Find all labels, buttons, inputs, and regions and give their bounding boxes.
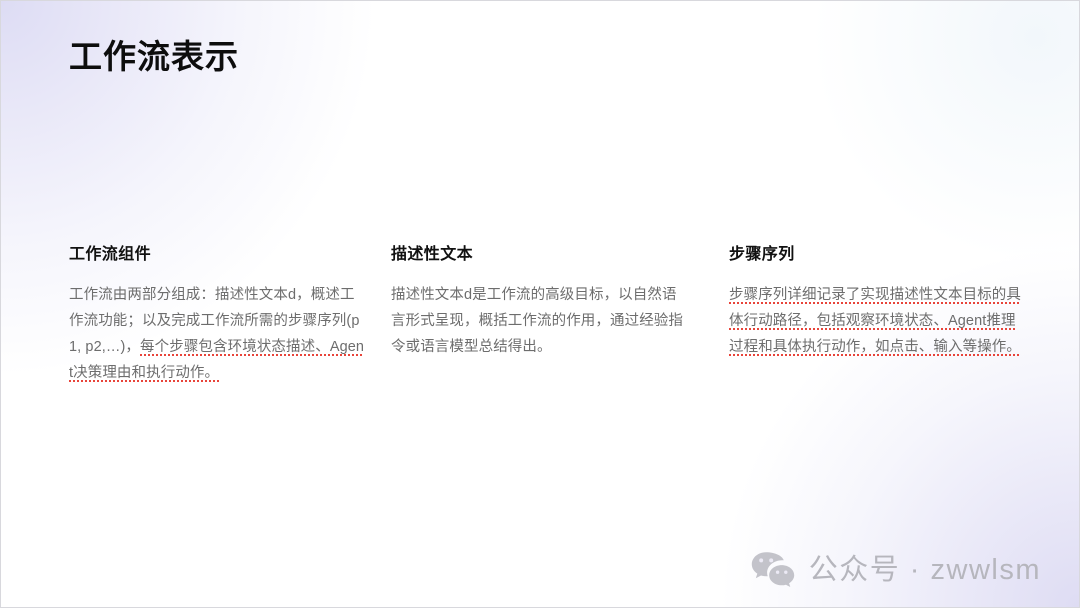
column-body: 步骤序列详细记录了实现描述性文本目标的具体行动路径，包括观察环境状态、Agent… <box>729 282 1025 360</box>
watermark-text: 公众号 · zwwlsm <box>809 556 1041 585</box>
column-heading: 步骤序列 <box>729 245 1025 264</box>
column-heading: 工作流组件 <box>69 245 365 264</box>
watermark: 公众号 · zwwlsm <box>751 551 1041 589</box>
body-segment-spellcheck: 步骤序列详细记录了实现描述性文本目标的具体行动路径，包括观察环境状态、Agent… <box>729 287 1021 355</box>
column-step-sequence: 步骤序列 步骤序列详细记录了实现描述性文本目标的具体行动路径，包括观察环境状态、… <box>729 245 1025 360</box>
wechat-icon <box>751 551 795 589</box>
body-segment: 描述性文本d是工作流的高级目标，以自然语言形式呈现，概括工作流的作用，通过经验指… <box>391 287 683 355</box>
columns-container: 工作流组件 工作流由两部分组成：描述性文本d，概述工作流功能；以及完成工作流所需… <box>1 245 1080 435</box>
column-workflow-components: 工作流组件 工作流由两部分组成：描述性文本d，概述工作流功能；以及完成工作流所需… <box>69 245 365 386</box>
column-body: 描述性文本d是工作流的高级目标，以自然语言形式呈现，概括工作流的作用，通过经验指… <box>391 282 687 360</box>
column-body: 工作流由两部分组成：描述性文本d，概述工作流功能；以及完成工作流所需的步骤序列(… <box>69 282 365 386</box>
page-title: 工作流表示 <box>69 37 239 77</box>
column-descriptive-text: 描述性文本 描述性文本d是工作流的高级目标，以自然语言形式呈现，概括工作流的作用… <box>391 245 687 360</box>
slide-canvas: 工作流表示 工作流组件 工作流由两部分组成：描述性文本d，概述工作流功能；以及完… <box>0 0 1080 608</box>
column-heading: 描述性文本 <box>391 245 687 264</box>
